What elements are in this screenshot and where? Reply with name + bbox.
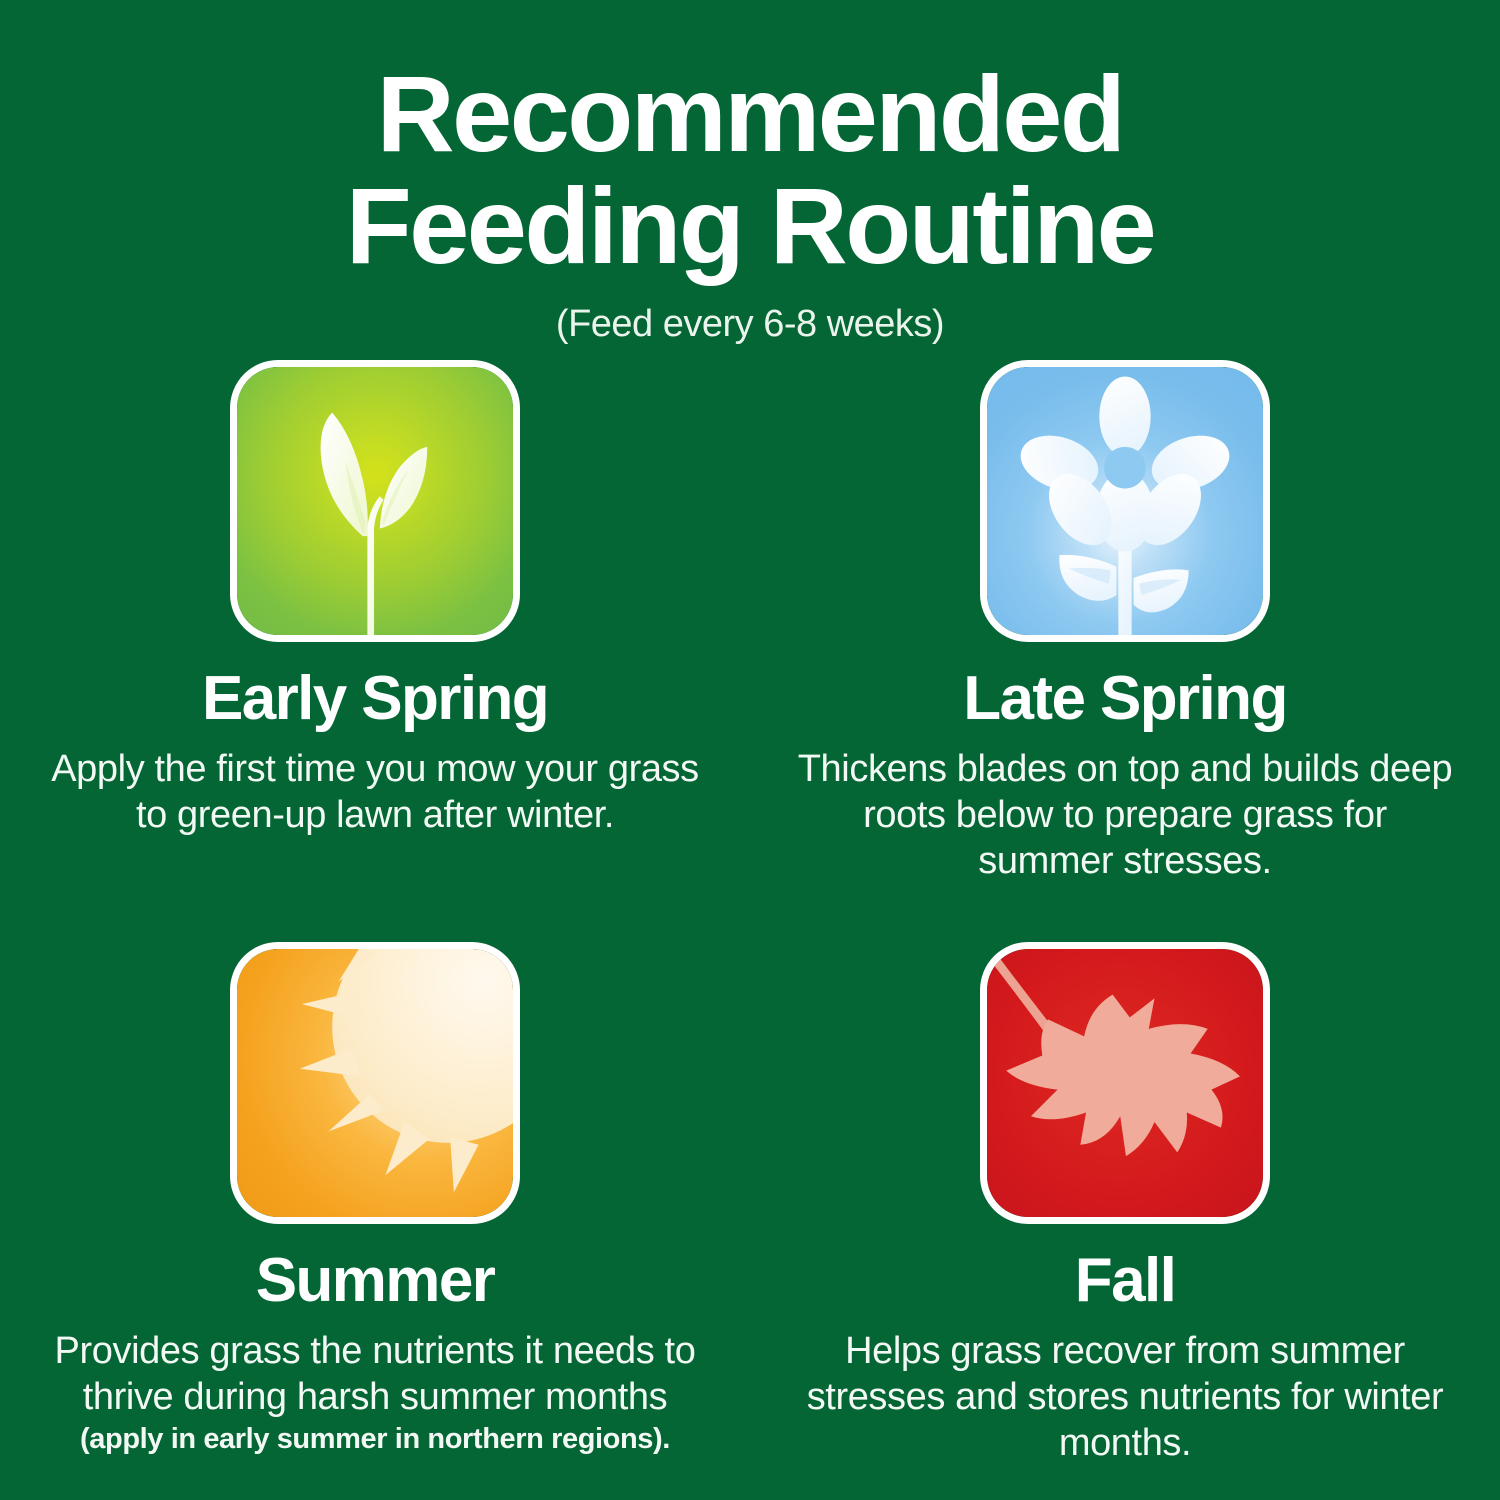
sun-icon	[237, 949, 513, 1217]
sprout-icon	[237, 367, 513, 635]
season-card-fall: Fall Helps grass recover from summer str…	[750, 942, 1500, 1466]
late-spring-description: Thickens blades on top and builds deep r…	[795, 746, 1455, 884]
maple-leaf-icon	[987, 949, 1263, 1217]
early-spring-icon-tile	[230, 360, 520, 642]
summer-icon-tile	[230, 942, 520, 1224]
fall-icon-tile	[980, 942, 1270, 1224]
flower-icon	[987, 367, 1263, 635]
early-spring-title: Early Spring	[202, 666, 548, 732]
late-spring-title: Late Spring	[963, 666, 1286, 732]
page-title-line-2: Feeding Routine	[0, 170, 1500, 282]
page-subtitle: (Feed every 6-8 weeks)	[0, 302, 1500, 346]
summer-note: (apply in early summer in northern regio…	[80, 1420, 670, 1458]
season-card-late-spring: Late Spring Thickens blades on top and b…	[750, 360, 1500, 884]
season-card-early-spring: Early Spring Apply the first time you mo…	[0, 360, 750, 884]
page-title-line-1: Recommended	[0, 58, 1500, 170]
season-card-summer: Summer Provides grass the nutrients it n…	[0, 942, 750, 1466]
feeding-routine-infographic: Recommended Feeding Routine (Feed every …	[0, 0, 1500, 1500]
early-spring-description: Apply the first time you mow your grass …	[45, 746, 705, 838]
poster-header: Recommended Feeding Routine (Feed every …	[0, 58, 1500, 346]
late-spring-icon-tile	[980, 360, 1270, 642]
fall-title: Fall	[1075, 1248, 1175, 1314]
summer-title: Summer	[256, 1248, 495, 1314]
fall-description: Helps grass recover from summer stresses…	[795, 1328, 1455, 1466]
season-card-grid: Early Spring Apply the first time you mo…	[0, 360, 1500, 1466]
summer-description: Provides grass the nutrients it needs to…	[45, 1328, 705, 1420]
